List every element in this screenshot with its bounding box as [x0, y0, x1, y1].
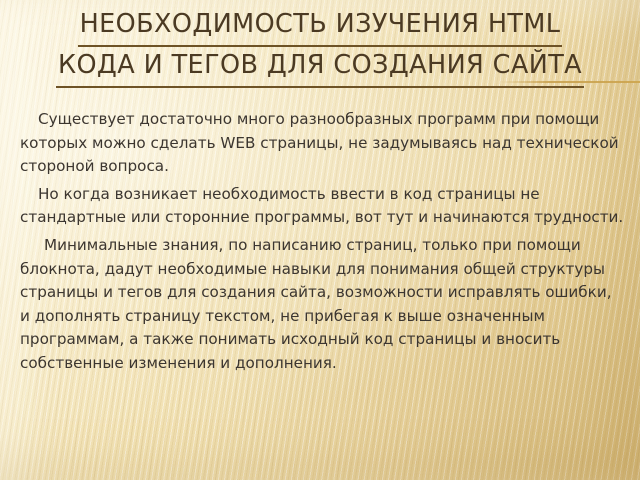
slide-title: НЕОБХОДИМОСТЬ ИЗУЧЕНИЯ HTML КОДА И ТЕГОВ… — [0, 6, 640, 88]
slide-title-line-1: НЕОБХОДИМОСТЬ ИЗУЧЕНИЯ HTML — [0, 6, 640, 47]
title-accent-rule — [0, 81, 640, 83]
body-paragraph-1: Существует достаточно много разнообразны… — [20, 108, 626, 179]
body-paragraph-2: Но когда возникает необходимость ввести … — [20, 183, 626, 230]
slide-content: НЕОБХОДИМОСТЬ ИЗУЧЕНИЯ HTML КОДА И ТЕГОВ… — [0, 0, 640, 480]
slide-canvas: НЕОБХОДИМОСТЬ ИЗУЧЕНИЯ HTML КОДА И ТЕГОВ… — [0, 0, 640, 480]
slide-title-line-1-text: НЕОБХОДИМОСТЬ ИЗУЧЕНИЯ HTML — [78, 6, 563, 47]
body-paragraph-3: Минимальные знания, по написанию страниц… — [20, 234, 626, 376]
slide-body: Существует достаточно много разнообразны… — [20, 108, 626, 380]
